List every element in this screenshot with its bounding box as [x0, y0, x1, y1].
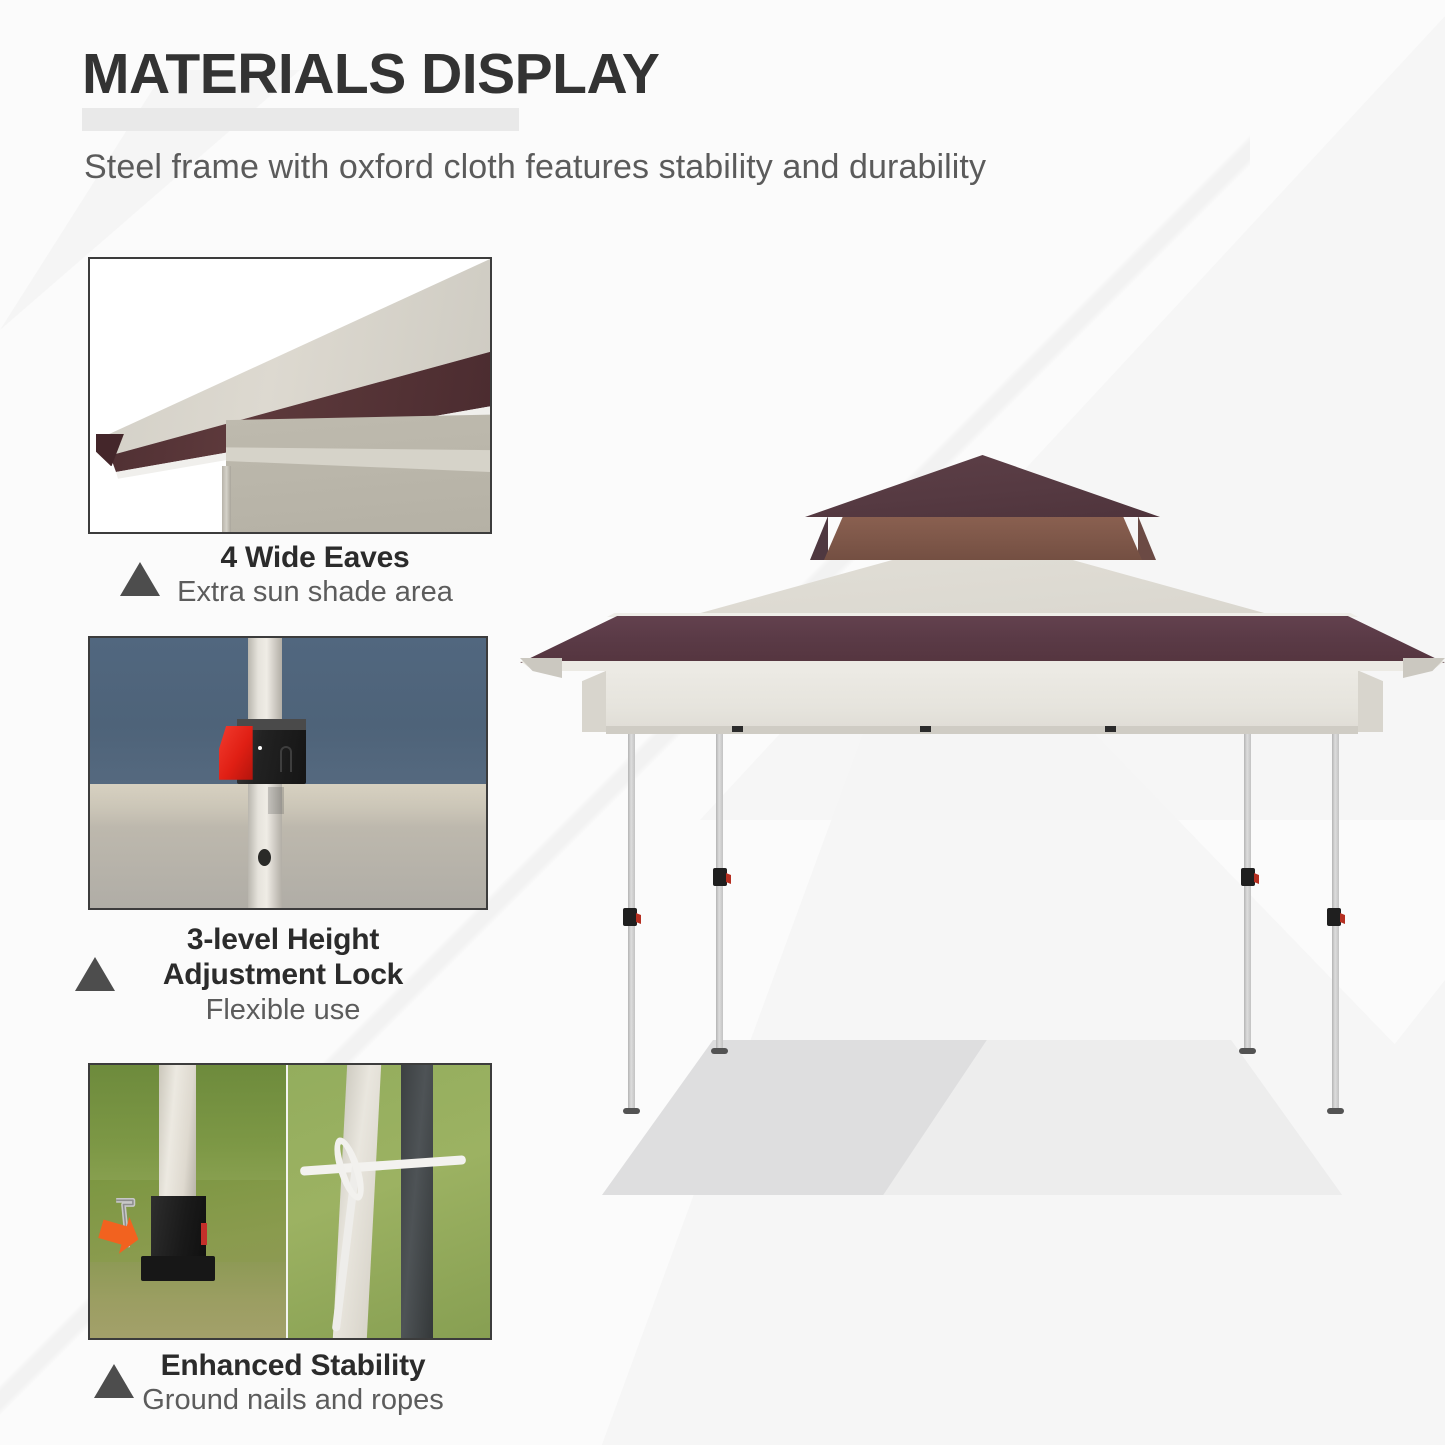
caption-height-lock: 3-level Height Adjustment Lock Flexible …: [68, 922, 498, 1028]
feature-photo-wide-eaves: [88, 257, 492, 534]
caption-title-line-1: 3-level Height: [68, 922, 498, 957]
eave-tip-left: [520, 658, 562, 678]
triangle-up-icon: [94, 1364, 134, 1398]
valance-left-return: [582, 670, 608, 732]
page-subtitle: Steel frame with oxford cloth features s…: [84, 148, 986, 187]
title-highlight-band: [82, 108, 519, 131]
page-title: MATERIALS DISPLAY: [82, 46, 659, 103]
feature-photo-height-lock: [88, 636, 488, 910]
caption-title: Enhanced Stability: [88, 1348, 498, 1383]
header-block: MATERIALS DISPLAY: [82, 46, 659, 103]
leg-lock-back-right: [1241, 868, 1255, 886]
eave-tip-right: [1403, 658, 1445, 678]
caption-stability: Enhanced Stability Ground nails and rope…: [88, 1348, 498, 1418]
red-lock-lever: [219, 726, 253, 780]
product-image-gazebo: [520, 430, 1445, 1210]
triangle-up-icon: [75, 957, 115, 991]
canopy-vent-band: [824, 516, 1142, 560]
vent-side-left: [810, 516, 828, 560]
pole-adjustment-hole: [258, 849, 271, 866]
canopy-maroon-stripe: [520, 616, 1445, 663]
foot-red-marker: [201, 1223, 207, 1245]
infographic-page: MATERIALS DISPLAY Steel frame with oxfor…: [0, 0, 1445, 1445]
gazebo-leg-back-right: [1244, 730, 1251, 1052]
leg-lock-front-right: [1327, 908, 1341, 926]
pole-shadow: [268, 787, 284, 814]
canopy-eave-edge: [520, 661, 1445, 671]
triangle-up-icon: [120, 562, 160, 596]
photo-ground-highlight: [90, 784, 486, 827]
caption-wide-eaves: 4 Wide Eaves Extra sun shade area: [120, 540, 510, 610]
canopy-top-cap: [805, 455, 1160, 517]
lock-slot: [280, 746, 292, 772]
caption-subtitle: Ground nails and ropes: [88, 1383, 498, 1418]
photo-right-rope-tie: [288, 1065, 490, 1338]
foot-base-plate: [141, 1256, 215, 1281]
valance-bottom-edge: [606, 726, 1358, 734]
canopy-valance: [606, 670, 1358, 732]
leg-foot-back-left: [711, 1048, 728, 1054]
caption-title-line-2: Adjustment Lock: [68, 957, 498, 992]
leg-lock-front-left: [623, 908, 637, 926]
photo-left-ground-stake: [90, 1065, 286, 1338]
leg-foot-front-left: [623, 1108, 640, 1114]
valance-clip-center: [920, 726, 931, 732]
valance-clip-left: [732, 726, 743, 732]
caption-title: 4 Wide Eaves: [120, 540, 510, 575]
canopy-support-leg: [222, 466, 231, 532]
valance-right-return: [1357, 670, 1383, 732]
guy-rope-horizontal: [300, 1155, 466, 1176]
leg-foot-back-right: [1239, 1048, 1256, 1054]
ground-stake-icon: [112, 1174, 143, 1270]
caption-subtitle: Extra sun shade area: [120, 575, 510, 610]
gazebo-leg-back-left: [716, 730, 723, 1052]
gazebo-leg-pole: [159, 1065, 196, 1218]
feature-photo-stability: [88, 1063, 492, 1340]
leg-foot-front-right: [1327, 1108, 1344, 1114]
vent-side-right: [1138, 516, 1156, 560]
caption-subtitle: Flexible use: [68, 993, 498, 1028]
lever-highlight-dot: [258, 746, 262, 750]
valance-clip-right: [1105, 726, 1116, 732]
gazebo-leg-pole-dark: [401, 1065, 433, 1338]
leg-lock-back-left: [713, 868, 727, 886]
